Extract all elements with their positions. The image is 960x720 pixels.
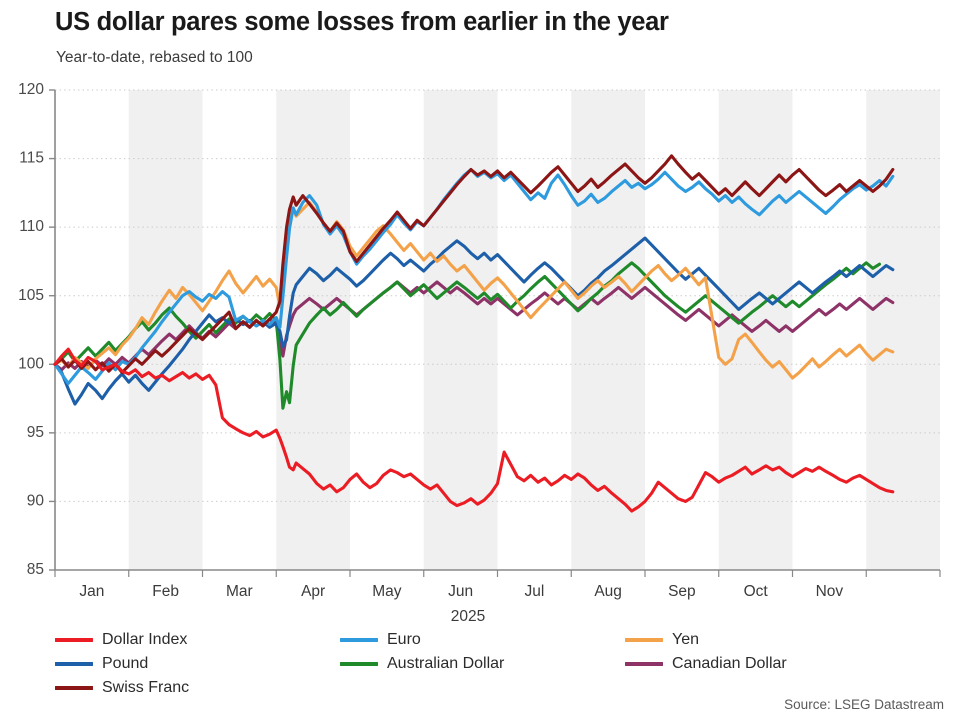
legend-item[interactable]: Yen (625, 631, 910, 649)
legend-item[interactable]: Dollar Index (55, 631, 340, 649)
line-swatch-icon (340, 662, 378, 667)
legend-label: Canadian Dollar (672, 655, 787, 673)
y-tick-label: 90 (27, 493, 45, 510)
legend-label: Pound (102, 655, 148, 673)
line-swatch-icon (340, 638, 378, 643)
x-tick-label: Jun (448, 583, 473, 600)
chart-legend: Dollar IndexEuroYenPoundAustralian Dolla… (55, 628, 935, 700)
x-tick-label: Nov (816, 583, 844, 600)
x-tick-label: May (372, 583, 402, 600)
x-tick-label: Oct (744, 583, 769, 600)
line-chart: 859095100105110115120JanFebMarAprMayJunJ… (0, 0, 960, 720)
legend-item[interactable]: Pound (55, 655, 340, 673)
x-tick-label: Feb (152, 583, 179, 600)
x-tick-label: Aug (594, 583, 622, 600)
x-tick-label: Sep (668, 583, 696, 600)
y-tick-label: 85 (27, 561, 44, 578)
legend-item[interactable]: Euro (340, 631, 625, 649)
y-tick-label: 100 (18, 355, 44, 372)
month-band (866, 90, 940, 570)
x-axis-label: 2025 (451, 608, 485, 625)
line-swatch-icon (55, 638, 93, 643)
line-swatch-icon (625, 662, 663, 667)
legend-item[interactable]: Swiss Franc (55, 679, 340, 697)
x-tick-label: Jan (79, 583, 104, 600)
legend-item[interactable]: Canadian Dollar (625, 655, 910, 673)
y-tick-label: 105 (18, 287, 44, 304)
line-swatch-icon (55, 662, 93, 667)
source-note: Source: LSEG Datastream (784, 697, 944, 712)
month-band (571, 90, 645, 570)
x-tick-label: Mar (226, 583, 253, 600)
legend-label: Dollar Index (102, 631, 187, 649)
y-tick-label: 110 (19, 218, 44, 235)
x-tick-label: Jul (524, 583, 544, 600)
y-tick-label: 95 (27, 424, 44, 441)
legend-item[interactable]: Australian Dollar (340, 655, 625, 673)
legend-label: Australian Dollar (387, 655, 504, 673)
x-tick-label: Apr (301, 583, 325, 600)
legend-label: Swiss Franc (102, 679, 189, 697)
chart-canvas: 859095100105110115120JanFebMarAprMayJunJ… (0, 0, 960, 720)
y-tick-label: 120 (18, 81, 44, 98)
line-swatch-icon (55, 686, 93, 691)
y-tick-label: 115 (19, 150, 44, 167)
legend-label: Euro (387, 631, 421, 649)
legend-label: Yen (672, 631, 699, 649)
line-swatch-icon (625, 638, 663, 643)
